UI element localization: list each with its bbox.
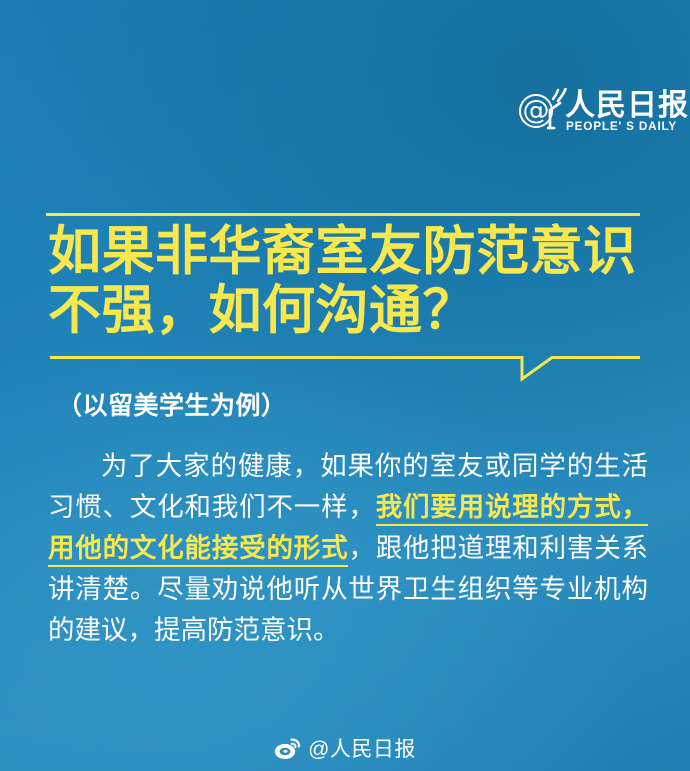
page-title: 如果非华裔室友防范意识 不强，如何沟通？ <box>48 222 662 340</box>
body-paragraph: 为了大家的健康，如果你的室友或同学的生活习惯、文化和我们不一样，我们要用说理的方… <box>48 446 648 651</box>
body-highlight-a: 我们要用说理的方式， <box>376 492 648 526</box>
poster-canvas: 人民日报 PEOPLE' S DAILY 如果非华裔室友防范意识 不强，如何沟通… <box>0 0 690 771</box>
brand-name-en: PEOPLE' S DAILY <box>566 121 677 133</box>
body-highlight-b: 用他的文化能接受的形式 <box>48 533 348 567</box>
headline-line-2: 不强，如何沟通？ <box>48 281 662 340</box>
footer: @人民日报 <box>0 730 690 766</box>
headline-rule-bottom-with-tail <box>50 352 640 382</box>
headline-line-1: 如果非华裔室友防范意识 <box>48 222 662 281</box>
peoples-daily-logo: 人民日报 PEOPLE' S DAILY <box>519 88 655 138</box>
brand-name-cn: 人民日报 <box>565 90 689 122</box>
weibo-eye-icon <box>274 736 301 760</box>
subtitle: （以留美学生为例） <box>57 386 287 422</box>
headline-rule-top <box>46 213 640 216</box>
footer-handle: @人民日报 <box>308 733 416 763</box>
